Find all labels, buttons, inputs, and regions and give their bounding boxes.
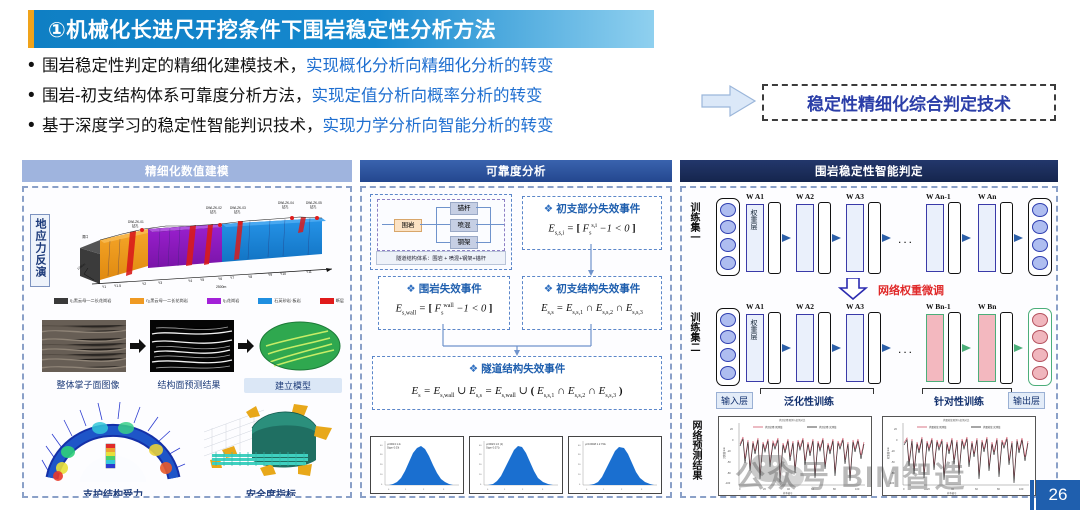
hidden-layer (948, 312, 961, 384)
event-equation: Es,s = Es,s,1 ∩ Es,s,2 ∩ Es,s,3 (523, 303, 661, 316)
ellipsis-label: ... (898, 232, 914, 246)
svg-text:1: 1 (603, 489, 605, 491)
flow-arrow-icon (882, 234, 891, 242)
hidden-layer (1000, 312, 1013, 384)
legend-item: η₂黑云母—二长花岗岩 (130, 298, 188, 304)
svg-text:0: 0 (480, 484, 482, 486)
legend-swatch (130, 298, 144, 304)
callout-text: 稳定性精细化综合判定技术 (807, 90, 1011, 115)
weight-layer-label: 权重层 (747, 315, 759, 344)
system-inner-frame: 围岩 锚杆 喷混 钢架 (377, 199, 505, 251)
neuron (720, 366, 736, 380)
svg-text:30: 30 (479, 454, 482, 456)
hidden-layer (768, 312, 781, 384)
bottom-figure-captions: 支护结构受力 安全度指标 (40, 486, 344, 498)
node-shotcrete: 喷混 (450, 219, 478, 232)
svg-text:-80: -80 (727, 471, 731, 475)
connector (436, 242, 450, 243)
flow-arrow-icon (962, 234, 971, 242)
flow-arrow-icon (832, 344, 841, 352)
svg-text:100: 100 (855, 487, 860, 491)
event-title: ❖初支部分失效事件 (523, 201, 661, 216)
panel3-header: 围岩稳定性智能判定 (680, 160, 1058, 182)
svg-text:-50: -50 (727, 460, 731, 464)
svg-text:钻孔: 钻孔 (132, 223, 139, 228)
flow-arrow-icon (962, 344, 971, 352)
svg-text:Y7: Y7 (230, 276, 234, 280)
flow-arrow-icon (782, 344, 791, 352)
connector (476, 242, 490, 243)
legend-item: 断层 (320, 298, 344, 304)
weight-label-wa2-b: W A2 (796, 302, 814, 311)
weight-layer-3 (846, 204, 864, 272)
prediction-result-label: 网络预测结果 (688, 420, 703, 480)
output-layer-1 (1028, 198, 1052, 276)
distribution-chart: μ=0023 1.0 (1)Sigm 0.071ι 01020 3040 012… (469, 436, 563, 494)
panel2-header: 可靠度分析 (360, 160, 672, 182)
svg-text:0: 0 (381, 484, 383, 486)
bullet-highlight: 实现概化分析向精细化分析的转变 (306, 57, 554, 75)
svg-text:10: 10 (380, 474, 383, 476)
svg-text:0: 0 (586, 489, 588, 491)
legend-swatch (207, 298, 221, 304)
svg-text:2: 2 (522, 489, 524, 491)
ellipsis-label: ... (898, 342, 914, 356)
svg-text:-100: -100 (725, 481, 731, 485)
caption-build-model: 建立模型 (244, 378, 342, 393)
weight-label-wa1-b: W A1 (746, 302, 764, 311)
svg-text:Y11: Y11 (306, 270, 312, 274)
event-box-tunnel-structure-failure: ❖隧道结构失效事件 Es = Es,wall ∪ Es,s = Es,wall … (372, 356, 662, 410)
neuron (720, 238, 736, 252)
reliability-distributions: μ=0013 1.2ιSigm 0.03ι 01020 3040 0123 (370, 436, 662, 494)
structural-plane-prediction (150, 320, 234, 372)
legend-label: 断层 (336, 298, 344, 304)
panel-intelligent-stability-judgment: 围岩稳定性智能判定 训练集一 W A1 权重层 W A2 (680, 160, 1058, 498)
event-equation: Es,s,i = [ Fss,i −1 < 0 ] (523, 223, 661, 237)
caption-support-force: 支护结构受力 (40, 486, 186, 498)
svg-text:沉降值/mm: 沉降值/mm (722, 447, 726, 459)
weight-layer-1b: 权重层 (746, 314, 764, 382)
panel1-header: 精细化数值建模 (22, 160, 352, 182)
svg-text:Y1.5: Y1.5 (114, 284, 121, 288)
svg-text:1: 1 (405, 489, 407, 491)
svg-text:0: 0 (487, 489, 489, 491)
geology-legend: η₁黑云母—二长花岗岩 η₂黑云母—二长花岗岩 η₃花岗岩 石英砂岩·板岩 断层 (54, 298, 344, 304)
svg-text:1: 1 (504, 489, 506, 491)
train-set-1-label: 训练集一 (686, 202, 701, 242)
callout-box: 稳定性精细化综合判定技术 (762, 84, 1056, 121)
legend-label: η₃花岗岩 (223, 298, 240, 304)
connector (436, 207, 437, 243)
panel1-body: 地应力反演 (22, 186, 352, 498)
neuron (720, 330, 736, 344)
label-output-layer: 输出层 (1008, 392, 1045, 409)
input-layer-1 (716, 198, 740, 276)
bullet-item: • 基于深度学习的稳定性智能判识技术，实现力学分析向智能分析的转变 (28, 116, 728, 137)
right-arrow-icon (700, 84, 758, 118)
support-force-figure (40, 398, 186, 484)
neuron (720, 256, 736, 270)
flow-arrow-icon (782, 234, 791, 242)
legend-swatch (54, 298, 68, 304)
failure-probability-summary: 失效概率：体系2.25%>围岩1.88%>喷混0.37% (368, 496, 664, 498)
svg-text:拱顶沉降 预测值: 拱顶沉降 预测值 (765, 425, 783, 429)
legend-swatch (258, 298, 272, 304)
weight-label-wa3-b: W A3 (846, 302, 864, 311)
svg-text:样本编号: 样本编号 (783, 491, 793, 495)
legend-item: η₁黑云母—二长花岗岩 (54, 298, 111, 304)
svg-text:钻孔: 钻孔 (282, 204, 289, 209)
hidden-layer (1000, 202, 1013, 274)
svg-text:-50: -50 (891, 460, 895, 464)
legend-label: 石英砂岩·板岩 (274, 298, 301, 304)
svg-text:10: 10 (578, 474, 581, 476)
svg-text:拱腰收敛 实测值: 拱腰收敛 实测值 (983, 425, 1001, 429)
svg-text:Y6: Y6 (218, 277, 222, 281)
svg-text:-80: -80 (891, 471, 895, 475)
node-bolt: 锚杆 (450, 202, 478, 215)
svg-text:Y3: Y3 (158, 281, 162, 285)
network-row-2: W A1 权重层 W A2 W A3 ... W Bn-1 W B (716, 306, 1052, 390)
bullet-highlight: 实现力学分析向智能分析的转变 (323, 117, 554, 135)
tunnel-face-photo (42, 320, 126, 372)
bullet-lead: 基于深度学习的稳定性智能判识技术， (42, 117, 323, 135)
node-surrounding-rock: 围岩 (394, 219, 422, 232)
label-input-layer: 输入层 (716, 392, 753, 409)
neuron (720, 203, 736, 217)
diamond-bullet-icon: ❖ (544, 283, 553, 295)
train-set-2-label: 训练集二 (686, 312, 701, 352)
arrow-right-icon (238, 339, 254, 353)
svg-text:Y5: Y5 (200, 278, 204, 282)
flow-arrow-icon (832, 234, 841, 242)
svg-text:钻孔: 钻孔 (310, 204, 317, 209)
diamond-bullet-icon: ❖ (406, 283, 415, 295)
neuron (1032, 256, 1048, 270)
weight-label-wbn: W Bn (978, 302, 996, 311)
legend-label: η₂黑云母—二长花岗岩 (146, 298, 188, 304)
svg-text:Sigm 0.071ι: Sigm 0.071ι (486, 446, 500, 450)
slide-title-bar: ①机械化长进尺开挖条件下围岩稳定性分析方法 (34, 10, 654, 48)
hidden-layer (948, 202, 961, 274)
svg-text:40: 40 (578, 445, 581, 447)
fine-tune-label: 网络权重微调 (878, 282, 944, 298)
output-layer-2 (1028, 308, 1052, 386)
neuron (1032, 348, 1048, 362)
svg-text:2: 2 (423, 489, 425, 491)
hidden-layer (868, 202, 881, 274)
svg-text:2500m: 2500m (216, 285, 227, 289)
svg-text:30: 30 (578, 454, 581, 456)
connector (436, 224, 450, 225)
weight-layer-n (978, 204, 996, 272)
support-structure-figures (40, 398, 344, 484)
svg-text:拱腰收敛 预测值: 拱腰收敛 预测值 (929, 425, 947, 429)
svg-text:Y10: Y10 (280, 272, 286, 276)
distribution-chart: μ=0.0048 1.2 731ι 01020 3040 0123 (568, 436, 662, 494)
svg-text:100: 100 (1019, 487, 1024, 491)
diamond-bullet-icon: ❖ (469, 363, 478, 375)
page-number-badge: 26 (1036, 480, 1080, 510)
hidden-layer (868, 312, 881, 384)
event-equation: Es,wall = [ Fswall −1 < 0 ] (379, 303, 509, 317)
svg-text:μ=0.0048 1.2 731ι: μ=0.0048 1.2 731ι (585, 442, 606, 446)
arch-waist-convergence-chart: 200-20 -50-80-100 02040 6080100 收敛值/mm 样… (882, 416, 1036, 496)
svg-text:拱顶沉降预测与实测对比: 拱顶沉降预测与实测对比 (779, 418, 806, 422)
weight-label-wa3: W A3 (846, 192, 864, 201)
svg-text:3: 3 (443, 489, 445, 491)
svg-text:3: 3 (542, 489, 544, 491)
svg-text:0: 0 (579, 484, 581, 486)
legend-label: η₁黑云母—二长花岗岩 (70, 298, 111, 304)
svg-text:拱腰收敛预测与实测对比: 拱腰收敛预测与实测对比 (943, 418, 970, 422)
network-row-1: W A1 权重层 W A2 W A3 ... W An-1 W A (716, 196, 1052, 280)
bullet-marker: • (28, 56, 42, 76)
weight-layer-2 (796, 204, 814, 272)
wechat-logo-icon (745, 455, 815, 487)
slide-root: ①机械化长进尺开挖条件下围岩稳定性分析方法 • 围岩稳定性判定的精细化建模技术，… (0, 0, 1080, 510)
svg-text:钻孔: 钻孔 (234, 209, 241, 214)
event-title: ❖隧道结构失效事件 (373, 361, 661, 376)
neuron (1032, 220, 1048, 234)
tunnel-face-pipeline (42, 320, 342, 372)
svg-text:Y8: Y8 (248, 275, 252, 279)
neuron (1032, 238, 1048, 252)
connector (476, 207, 490, 208)
svg-text:Y1: Y1 (102, 285, 106, 289)
svg-text:洞口: 洞口 (82, 234, 88, 239)
svg-text:2: 2 (621, 489, 623, 491)
weight-label-wa1: W A1 (746, 192, 764, 201)
weight-layer-3b (846, 314, 864, 382)
neuron (720, 313, 736, 327)
connector (490, 224, 504, 225)
arrow-right-icon (130, 339, 146, 353)
hidden-layer (768, 202, 781, 274)
caption-safety-index: 安全度指标 (198, 486, 344, 498)
pipeline-captions: 整体掌子面图像 结构面预测结果 建立模型 (42, 378, 342, 393)
connector (476, 224, 490, 225)
panel-refined-numerical-modeling: 精细化数值建模 地应力反演 (22, 160, 352, 498)
bullet-text: 围岩稳定性判定的精细化建模技术，实现概化分析向精细化分析的转变 (42, 56, 554, 77)
bullet-list: • 围岩稳定性判定的精细化建模技术，实现概化分析向精细化分析的转变 • 围岩-初… (28, 56, 728, 146)
svg-text:3: 3 (641, 489, 643, 491)
panel-reliability-analysis: 可靠度分析 围岩 锚杆 喷混 钢架 (360, 160, 672, 498)
weight-layer-label: 权重层 (747, 205, 759, 234)
diamond-bullet-icon: ❖ (544, 203, 553, 215)
svg-text:0: 0 (388, 489, 390, 491)
weight-label-wan: W An (978, 192, 996, 201)
svg-text:拱顶沉降 实测值: 拱顶沉降 实测值 (819, 425, 837, 429)
bullet-marker: • (28, 86, 42, 106)
bullet-item: • 围岩稳定性判定的精细化建模技术，实现概化分析向精细化分析的转变 (28, 56, 728, 77)
weight-layer-bn (978, 314, 996, 382)
svg-text:-20: -20 (727, 449, 731, 453)
event-box-partial-support-failure: ❖初支部分失效事件 Es,s,i = [ Fss,i −1 < 0 ] (522, 196, 662, 250)
flow-arrow-icon (1014, 344, 1023, 352)
svg-text:30: 30 (380, 454, 383, 456)
svg-text:样本编号: 样本编号 (947, 491, 957, 495)
geological-3d-model: DWLZK-01钻孔 DWLZK-02钻孔 DWLZK-03钻孔 DWLZK-0… (70, 196, 342, 292)
svg-text:μ=0023 1.0 (1): μ=0023 1.0 (1) (486, 442, 503, 446)
bullet-marker: • (28, 116, 42, 136)
svg-text:10: 10 (479, 474, 482, 476)
weight-label-wan1: W An-1 (926, 192, 951, 201)
legend-item: 石英砂岩·板岩 (258, 298, 301, 304)
safety-index-figure (198, 398, 344, 484)
svg-text:20: 20 (380, 464, 383, 466)
bullet-highlight: 实现定值分析向概率分析的转变 (312, 87, 543, 105)
svg-text:Y4: Y4 (188, 279, 192, 283)
label-targeted-training: 针对性训练 (934, 393, 984, 408)
panel3-body: 训练集一 W A1 权重层 W A2 (680, 186, 1058, 498)
svg-text:20: 20 (578, 464, 581, 466)
svg-text:Y2: Y2 (142, 282, 146, 286)
bullet-item: • 围岩-初支结构体系可靠度分析方法，实现定值分析向概率分析的转变 (28, 86, 728, 107)
geostress-inversion-label: 地应力反演 (30, 214, 50, 287)
flow-arrow-icon (882, 344, 891, 352)
weight-label-wa2: W A2 (796, 192, 814, 201)
input-layer-2 (716, 308, 740, 386)
svg-text:μ=0013 1.2ι: μ=0013 1.2ι (387, 442, 401, 446)
connector (490, 207, 491, 243)
bullet-text: 基于深度学习的稳定性智能判识技术，实现力学分析向智能分析的转变 (42, 116, 554, 137)
tunnel-system-diagram: 围岩 锚杆 喷混 钢架 隧道结构体系：围岩 + 喷混+钢架+锚杆 (370, 194, 512, 270)
legend-swatch (320, 298, 334, 304)
hidden-layer (818, 312, 831, 384)
built-model-ellipse (258, 320, 342, 372)
distribution-chart: μ=0013 1.2ιSigm 0.03ι 01020 3040 0123 (370, 436, 464, 494)
connector (436, 207, 450, 208)
down-arrow-icon (838, 278, 868, 300)
weight-layer-1: 权重层 (746, 204, 764, 272)
svg-text:收敛值/mm: 收敛值/mm (886, 447, 890, 459)
panel2-body: 围岩 锚杆 喷混 钢架 隧道结构体系：围岩 + 喷混+钢架+锚杆 (360, 186, 672, 498)
node-steel-frame: 钢架 (450, 236, 478, 249)
flow-arrow-icon (1014, 234, 1023, 242)
weight-layer-bn-1 (926, 314, 944, 382)
caption-face-image: 整体掌子面图像 (42, 378, 134, 393)
neuron (720, 348, 736, 362)
bullet-text: 围岩-初支结构体系可靠度分析方法，实现定值分析向概率分析的转变 (42, 86, 543, 107)
svg-text:-100: -100 (889, 481, 895, 485)
neuron (1032, 313, 1048, 327)
svg-text:40: 40 (479, 445, 482, 447)
svg-text:20: 20 (479, 464, 482, 466)
svg-text:-20: -20 (891, 449, 895, 453)
event-box-support-structure-failure: ❖初支结构失效事件 Es,s = Es,s,1 ∩ Es,s,2 ∩ Es,s,… (522, 276, 662, 330)
event-equation: Es = Es,wall ∪ Es,s = Es,wall ∪ ( Es,s,1… (373, 384, 661, 399)
weight-layer-2b (796, 314, 814, 382)
connector (382, 224, 394, 225)
system-caption: 隧道结构体系：围岩 + 喷混+钢架+锚杆 (376, 251, 506, 265)
neuron (1032, 330, 1048, 344)
event-box-rock-failure: ❖围岩失效事件 Es,wall = [ Fswall −1 < 0 ] (378, 276, 510, 330)
event-title: ❖初支结构失效事件 (523, 281, 661, 296)
caption-plane-prediction: 结构面预测结果 (143, 378, 235, 393)
connector (420, 224, 436, 225)
bullet-lead: 围岩稳定性判定的精细化建模技术， (42, 57, 306, 75)
hidden-layer (818, 202, 831, 274)
svg-text:Sigm 0.03ι: Sigm 0.03ι (387, 446, 400, 450)
neuron (720, 220, 736, 234)
neuron (1032, 203, 1048, 217)
page-title: ①机械化长进尺开挖条件下围岩稳定性分析方法 (48, 14, 496, 44)
svg-text:40: 40 (380, 445, 383, 447)
weight-layer-n-1 (926, 204, 944, 272)
svg-text:钻孔: 钻孔 (210, 209, 217, 214)
label-generalization-training: 泛化性训练 (784, 393, 834, 408)
legend-item: η₃花岗岩 (207, 298, 240, 304)
bullet-lead: 围岩-初支结构体系可靠度分析方法， (42, 87, 312, 105)
event-title: ❖围岩失效事件 (379, 281, 509, 296)
neuron (1032, 366, 1048, 380)
weight-label-wbn1: W Bn-1 (926, 302, 951, 311)
svg-text:Y9: Y9 (268, 273, 272, 277)
